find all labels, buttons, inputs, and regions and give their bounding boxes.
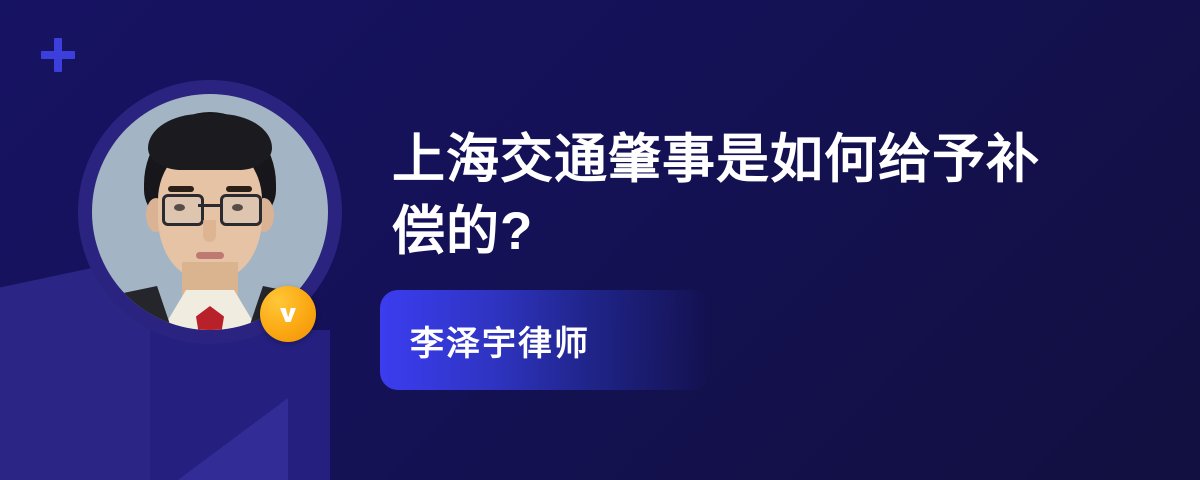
plus-icon [40, 37, 76, 73]
page-title: 上海交通肇事是如何给予补偿的? [392, 124, 1082, 268]
promo-banner: 上海交通肇事是如何给予补偿的? 李泽宇律师 [0, 0, 1200, 480]
author-name-button[interactable]: 李泽宇律师 [380, 290, 710, 390]
verified-badge-icon [260, 286, 316, 342]
avatar[interactable] [78, 80, 342, 344]
author-name-label: 李泽宇律师 [410, 316, 590, 365]
content-block: 上海交通肇事是如何给予补偿的? 李泽宇律师 [392, 124, 1092, 268]
